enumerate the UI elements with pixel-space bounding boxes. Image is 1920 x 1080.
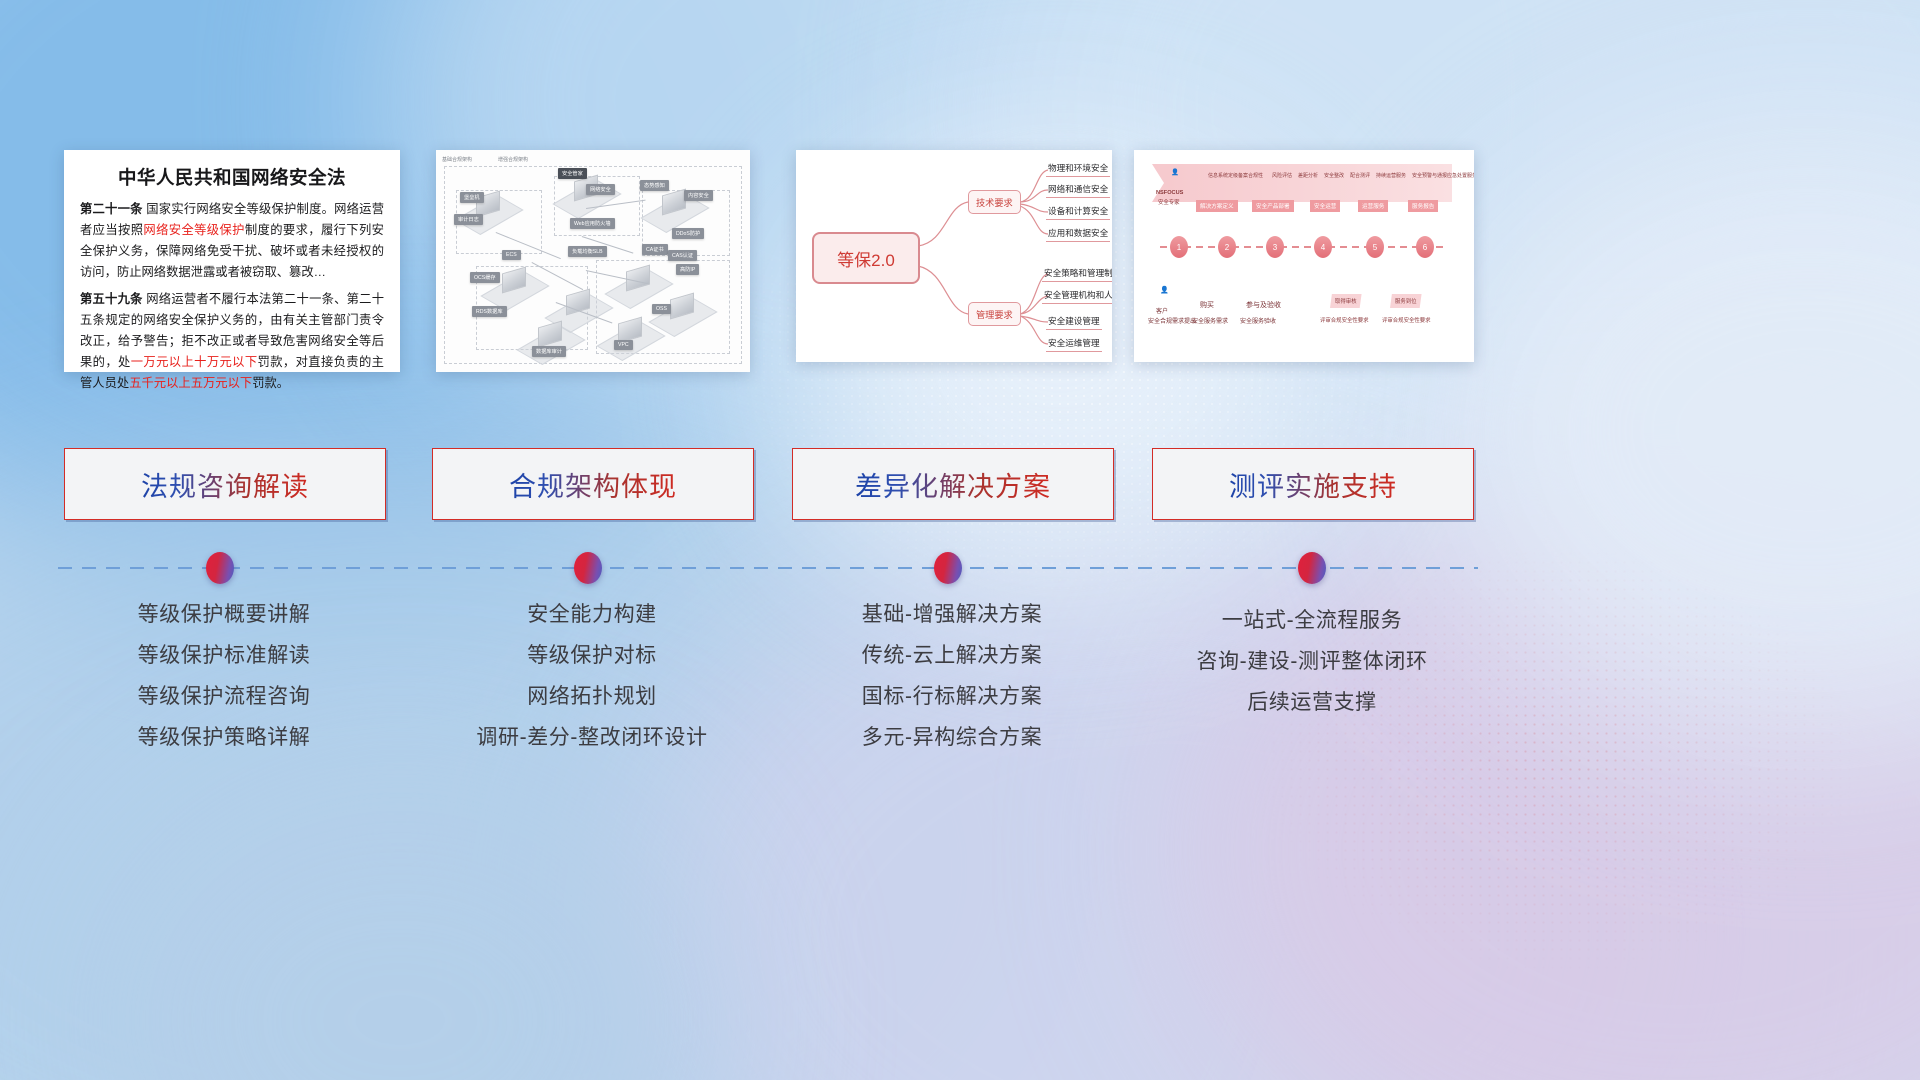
arch-node-13: OCS缓存 [470, 272, 500, 283]
article-21-highlight: 网络安全等级保护 [143, 223, 244, 237]
roadmap-footer-item-1: 参与及验收 [1246, 300, 1281, 310]
legal-article-21: 第二十一条 国家实行网络安全等级保护制度。网络运营者应当按照网络安全等级保护制度… [80, 199, 384, 284]
arch-node-14: RDS数据库 [472, 306, 507, 317]
arch-header-right: 增强合规架构 [498, 156, 528, 163]
roadmap-band-item-2: 差距分析 [1298, 172, 1318, 179]
mindmap-branch-technical: 技术要求 [968, 190, 1021, 214]
heading-label-1: 合规架构体现 [509, 465, 677, 504]
list-item: 咨询-建设-测评整体闭环 [1122, 651, 1502, 672]
roadmap-chip-sub-0: 评审合规安全性要求 [1320, 316, 1369, 324]
roadmap-footer-sub-1: 安全服务验收 [1240, 316, 1276, 325]
roadmap-footer-left-sub: 安全合规需求提出 [1148, 316, 1196, 325]
arch-node-8: 负载均衡SLB [568, 246, 607, 257]
roadmap-phase-2: 安全运营 [1310, 200, 1340, 212]
roadmap-band-item-4: 配合测评 [1350, 172, 1370, 179]
roadmap-band-item-0: 信息系统定级备案合规性 [1208, 172, 1263, 179]
roadmap-footer-left-label: 客户 [1156, 306, 1168, 315]
roadmap-chip-0: 取得审核 [1330, 294, 1362, 308]
roadmap-footer-sub-0: 安全服务需求 [1192, 316, 1228, 325]
heading-label-3: 测评实施支持 [1229, 465, 1397, 504]
column-list-3: 一站式-全流程服务 咨询-建设-测评整体闭环 后续运营支撑 [1122, 610, 1502, 733]
arch-node-6: Web应用防火墙 [570, 218, 615, 229]
roadmap-footer-item-0: 购买 [1200, 300, 1214, 310]
arch-node-12: 高防IP [676, 264, 699, 275]
list-item: 等级保护对标 [402, 645, 782, 666]
list-item: 后续运营支撑 [1122, 692, 1502, 713]
list-item: 一站式-全流程服务 [1122, 610, 1502, 631]
heading-box-1[interactable]: 合规架构体现 [432, 448, 754, 520]
list-item: 安全能力构建 [402, 604, 782, 625]
column-list-1: 安全能力构建 等级保护对标 网络拓扑规划 调研-差分-整改闭环设计 [402, 604, 782, 768]
column-list-2: 基础-增强解决方案 传统-云上解决方案 国标-行标解决方案 多元-异构综合方案 [762, 604, 1142, 768]
roadmap-band-item-5: 持续运营服务 [1376, 172, 1406, 179]
article-59-text-c: 罚款。 [252, 376, 289, 390]
arch-node-0: 安全管家 [558, 168, 587, 179]
roadmap-phase-1: 安全产品部署 [1252, 200, 1294, 212]
arch-node-11: CAS认证 [668, 250, 697, 261]
roadmap-step-1: 1 [1170, 236, 1188, 258]
mindmap-leaf-m3: 安全运维管理 [1046, 337, 1102, 352]
roadmap-band-item-3: 安全整改 [1324, 172, 1344, 179]
roadmap-step-5: 5 [1366, 236, 1384, 258]
arch-node-5: 内容安全 [684, 190, 713, 201]
arch-header-left: 基础合规架构 [442, 156, 472, 163]
arch-node-2: 态势感知 [640, 180, 669, 191]
mindmap-branch-management: 管理要求 [968, 302, 1021, 326]
arch-node-7: DDoS防护 [672, 228, 704, 239]
roadmap-step-6: 6 [1416, 236, 1434, 258]
mindmap-leaf-t2: 设备和计算安全 [1046, 205, 1110, 220]
roadmap-band-item-6: 安全预警与通报应急处置服务 [1412, 172, 1474, 179]
roadmap-brand-sub: 安全专家 [1158, 198, 1180, 206]
mindmap-root: 等保2.0 [812, 232, 920, 284]
legal-title: 中华人民共和国网络安全法 [80, 164, 384, 190]
article-21-label: 第二十一条 [80, 202, 143, 216]
list-item: 传统-云上解决方案 [762, 645, 1142, 666]
roadmap-phase-4: 服务报告 [1408, 200, 1438, 212]
roadmap-brand: 👤 [1158, 168, 1192, 176]
list-item: 等级保护流程咨询 [34, 686, 414, 707]
roadmap-phase-3: 运营服务 [1358, 200, 1388, 212]
arch-node-16: VPC [614, 340, 633, 350]
roadmap-band-item-1: 风险评估 [1272, 172, 1292, 179]
heading-box-0[interactable]: 法规咨询解读 [64, 448, 386, 520]
card-mindmap: 等保2.0 技术要求 管理要求 物理和环境安全 网络和通信安全 设备和计算安全 … [796, 150, 1112, 362]
timeline-dot-1[interactable] [574, 552, 602, 584]
list-item: 调研-差分-整改闭环设计 [402, 727, 782, 748]
mindmap-leaf-m2: 安全建设管理 [1046, 315, 1102, 330]
mindmap-leaf-t1: 网络和通信安全 [1046, 183, 1110, 198]
arch-node-3: 堡垒机 [460, 192, 484, 203]
timeline-line [58, 567, 1478, 569]
roadmap-band [1152, 164, 1452, 202]
heading-box-2[interactable]: 差异化解决方案 [792, 448, 1114, 520]
timeline-dot-0[interactable] [206, 552, 234, 584]
arch-node-9: ECS [502, 250, 521, 260]
roadmap-chip-1: 服务到位 [1390, 294, 1422, 308]
card-architecture-diagram: 基础合规架构 增强合规架构 安全 [436, 150, 750, 372]
card-roadmap: 👤 NSFOCUS 安全专家 信息系统定级备案合规性 风险评估 差距分析 安全整… [1134, 150, 1474, 362]
timeline-dot-3[interactable] [1298, 552, 1326, 584]
article-59-highlight-2: 五千元以上五万元以下 [129, 376, 252, 390]
column-list-0: 等级保护概要讲解 等级保护标准解读 等级保护流程咨询 等级保护策略详解 [34, 604, 414, 768]
article-59-highlight-1: 一万元以上十万元以下 [131, 355, 258, 369]
roadmap-phase-0: 解决方案定义 [1196, 200, 1238, 212]
list-item: 等级保护概要讲解 [34, 604, 414, 625]
list-item: 等级保护标准解读 [34, 645, 414, 666]
person-icon: 👤 [1158, 168, 1192, 176]
arch-node-4: 审计日志 [454, 214, 483, 225]
list-item: 多元-异构综合方案 [762, 727, 1142, 748]
heading-box-3[interactable]: 测评实施支持 [1152, 448, 1474, 520]
roadmap-step-4: 4 [1314, 236, 1332, 258]
list-item: 基础-增强解决方案 [762, 604, 1142, 625]
list-item: 等级保护策略详解 [34, 727, 414, 748]
mindmap-leaf-t0: 物理和环境安全 [1046, 162, 1110, 177]
timeline-dot-2[interactable] [934, 552, 962, 584]
roadmap-chip-sub-1: 评审合规安全性要求 [1382, 316, 1431, 324]
mindmap-leaf-t3: 应用和数据安全 [1046, 227, 1110, 242]
list-item: 国标-行标解决方案 [762, 686, 1142, 707]
legal-article-59: 第五十九条 网络运营者不履行本法第二十一条、第二十五条规定的网络安全保护义务的，… [80, 289, 384, 395]
article-59-label: 第五十九条 [80, 292, 143, 306]
arch-node-10: CA证书 [642, 244, 668, 255]
arch-node-17: 数据库审计 [532, 346, 566, 357]
roadmap-step-3: 3 [1266, 236, 1284, 258]
heading-label-2: 差异化解决方案 [855, 465, 1051, 504]
heading-label-0: 法规咨询解读 [141, 465, 309, 504]
customer-icon: 👤 [1160, 286, 1169, 294]
roadmap-dashed-line [1160, 246, 1444, 248]
mindmap-leaf-m0: 安全策略和管理制度 [1042, 267, 1112, 282]
card-legal-text: 中华人民共和国网络安全法 第二十一条 国家实行网络安全等级保护制度。网络运营者应… [64, 150, 400, 372]
roadmap-step-2: 2 [1218, 236, 1236, 258]
arch-node-15: OSS [652, 304, 671, 314]
arch-node-1: 网络安全 [586, 184, 615, 195]
mindmap-leaf-m1: 安全管理机构和人员 [1042, 289, 1112, 304]
roadmap-brand-name: NSFOCUS [1156, 190, 1183, 196]
list-item: 网络拓扑规划 [402, 686, 782, 707]
